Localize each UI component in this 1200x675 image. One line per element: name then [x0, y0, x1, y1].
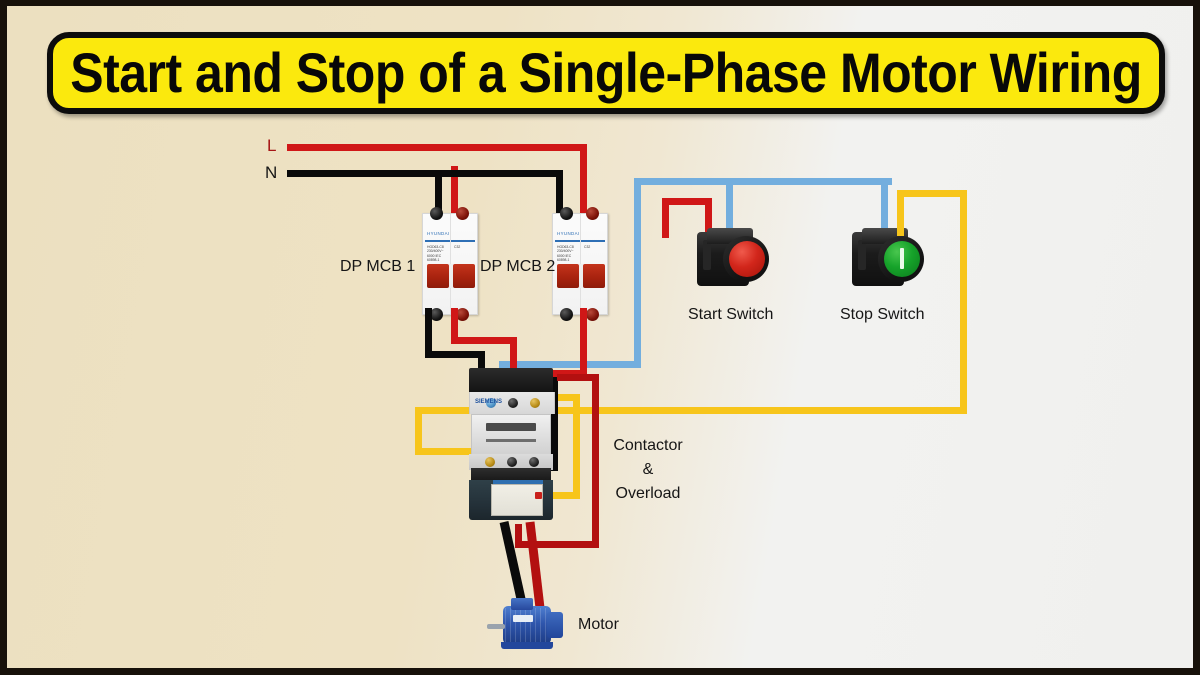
- contactor-brand: SIEMENS: [475, 399, 502, 405]
- contactor-top-terminal-block: [469, 368, 553, 392]
- label-stop-switch: Stop Switch: [840, 306, 924, 324]
- wire-blue-top-horizontal: [634, 178, 892, 185]
- device-start-switch[interactable]: [697, 228, 775, 290]
- wire-blue-to-start-switch: [726, 178, 733, 230]
- wire-line-branch-horizontal: [397, 144, 458, 151]
- contactor-terminal-a2: [508, 398, 518, 408]
- stop-switch-glyph-icon: [900, 248, 904, 269]
- mcb2-terminal-bottom-left: [560, 308, 573, 321]
- mcb1-spec: HGD63-C8230/400V~6000 IEC60898-1: [427, 245, 444, 263]
- contactor-terminal-t1: [485, 457, 495, 467]
- wire-neutral-branch-horizontal: [435, 170, 560, 177]
- wire-yellow-right-vertical: [960, 190, 967, 414]
- label-motor: Motor: [578, 616, 619, 634]
- wire-yellow-overload-riser: [573, 394, 580, 499]
- start-switch-cap[interactable]: [729, 241, 765, 277]
- mcb2-brand: HYUNDAI: [557, 231, 580, 236]
- mcb2-spec: HGD63-C8230/400V~6000 IEC60898-1: [557, 245, 574, 263]
- device-contactor-overload[interactable]: SIEMENS: [469, 368, 553, 520]
- mcb1-toggle-right[interactable]: [453, 264, 475, 288]
- device-motor[interactable]: [485, 598, 571, 654]
- wire-blue-left-vertical: [634, 178, 641, 364]
- label-contactor-line1: Contactor: [613, 437, 682, 454]
- mcb1-terminal-top-right: [456, 207, 469, 220]
- motor-base: [501, 642, 553, 649]
- motor-nameplate: [513, 615, 533, 622]
- mcb1-brand: HYUNDAI: [427, 231, 450, 236]
- wire-black-to-contactor-horizontal: [425, 351, 485, 358]
- mcb2-toggle-left[interactable]: [557, 264, 579, 288]
- wire-red-motor-loop-riser: [515, 524, 522, 548]
- device-stop-switch[interactable]: [852, 228, 930, 290]
- mcb1-toggle-left[interactable]: [427, 264, 449, 288]
- motor-end-bell: [547, 612, 563, 638]
- label-contactor-overload: Contactor & Overload: [602, 434, 694, 506]
- device-mcb2[interactable]: HYUNDAI HGD63-C8230/400V~6000 IEC60898-1…: [552, 213, 608, 315]
- wire-red-mcb2-out-vertical: [580, 308, 587, 374]
- motor-junction-box: [511, 598, 533, 610]
- title-plate: Start and Stop of a Single-Phase Motor W…: [47, 32, 1165, 114]
- wire-red-mcb1-to-contactor: [451, 337, 517, 344]
- stop-switch-notch: [858, 240, 866, 270]
- device-mcb1[interactable]: HYUNDAI HGD63-C8230/400V~6000 IEC60898-1…: [422, 213, 478, 315]
- label-neutral-N: N: [265, 163, 277, 183]
- mcb2-rating: C32: [584, 245, 590, 249]
- mcb2-terminal-bottom-right: [586, 308, 599, 321]
- page-title: Start and Stop of a Single-Phase Motor W…: [70, 41, 1142, 106]
- overload-face: [491, 484, 543, 516]
- wire-motor-red-lead: [530, 522, 540, 608]
- wire-neutral-main-horizontal: [287, 170, 442, 177]
- label-start-switch: Start Switch: [688, 306, 773, 324]
- start-switch-notch: [703, 240, 711, 270]
- contactor-terminal-t3: [529, 457, 539, 467]
- label-line-L: L: [267, 136, 276, 156]
- diagram-canvas: Start and Stop of a Single-Phase Motor W…: [0, 0, 1200, 675]
- diagram-frame: Start and Stop of a Single-Phase Motor W…: [7, 6, 1193, 668]
- contactor-slot-upper: [486, 423, 536, 431]
- motor-cooling-fins: [505, 608, 549, 642]
- label-contactor-line3: Overload: [616, 485, 681, 502]
- wire-yellow-top-horizontal: [897, 190, 967, 197]
- overload-reset-button[interactable]: [535, 492, 542, 499]
- wire-red-motor-loop-top: [557, 374, 599, 381]
- wire-blue-to-contactor-horizontal: [499, 361, 641, 368]
- mcb1-rating: C32: [454, 245, 460, 249]
- mcb1-terminal-top-left: [430, 207, 443, 220]
- contactor-terminal-t2: [507, 457, 517, 467]
- contactor-terminal-aux: [530, 398, 540, 408]
- wire-red-motor-loop-vertical: [592, 374, 599, 546]
- wire-blue-to-stop-switch: [881, 178, 888, 230]
- mcb2-toggle-right[interactable]: [583, 264, 605, 288]
- mcb2-terminal-top-right: [586, 207, 599, 220]
- label-mcb1: DP MCB 1: [340, 258, 415, 276]
- contactor-mid-body: [471, 414, 551, 458]
- wire-red-motor-loop-bottom: [515, 541, 599, 548]
- mcb2-terminal-top-left: [560, 207, 573, 220]
- label-mcb2: DP MCB 2: [480, 258, 555, 276]
- label-contactor-line2: &: [643, 461, 654, 478]
- motor-shaft: [487, 624, 505, 629]
- contactor-slot-lower: [486, 439, 536, 442]
- wire-line-to-mcb2-vertical: [580, 144, 587, 216]
